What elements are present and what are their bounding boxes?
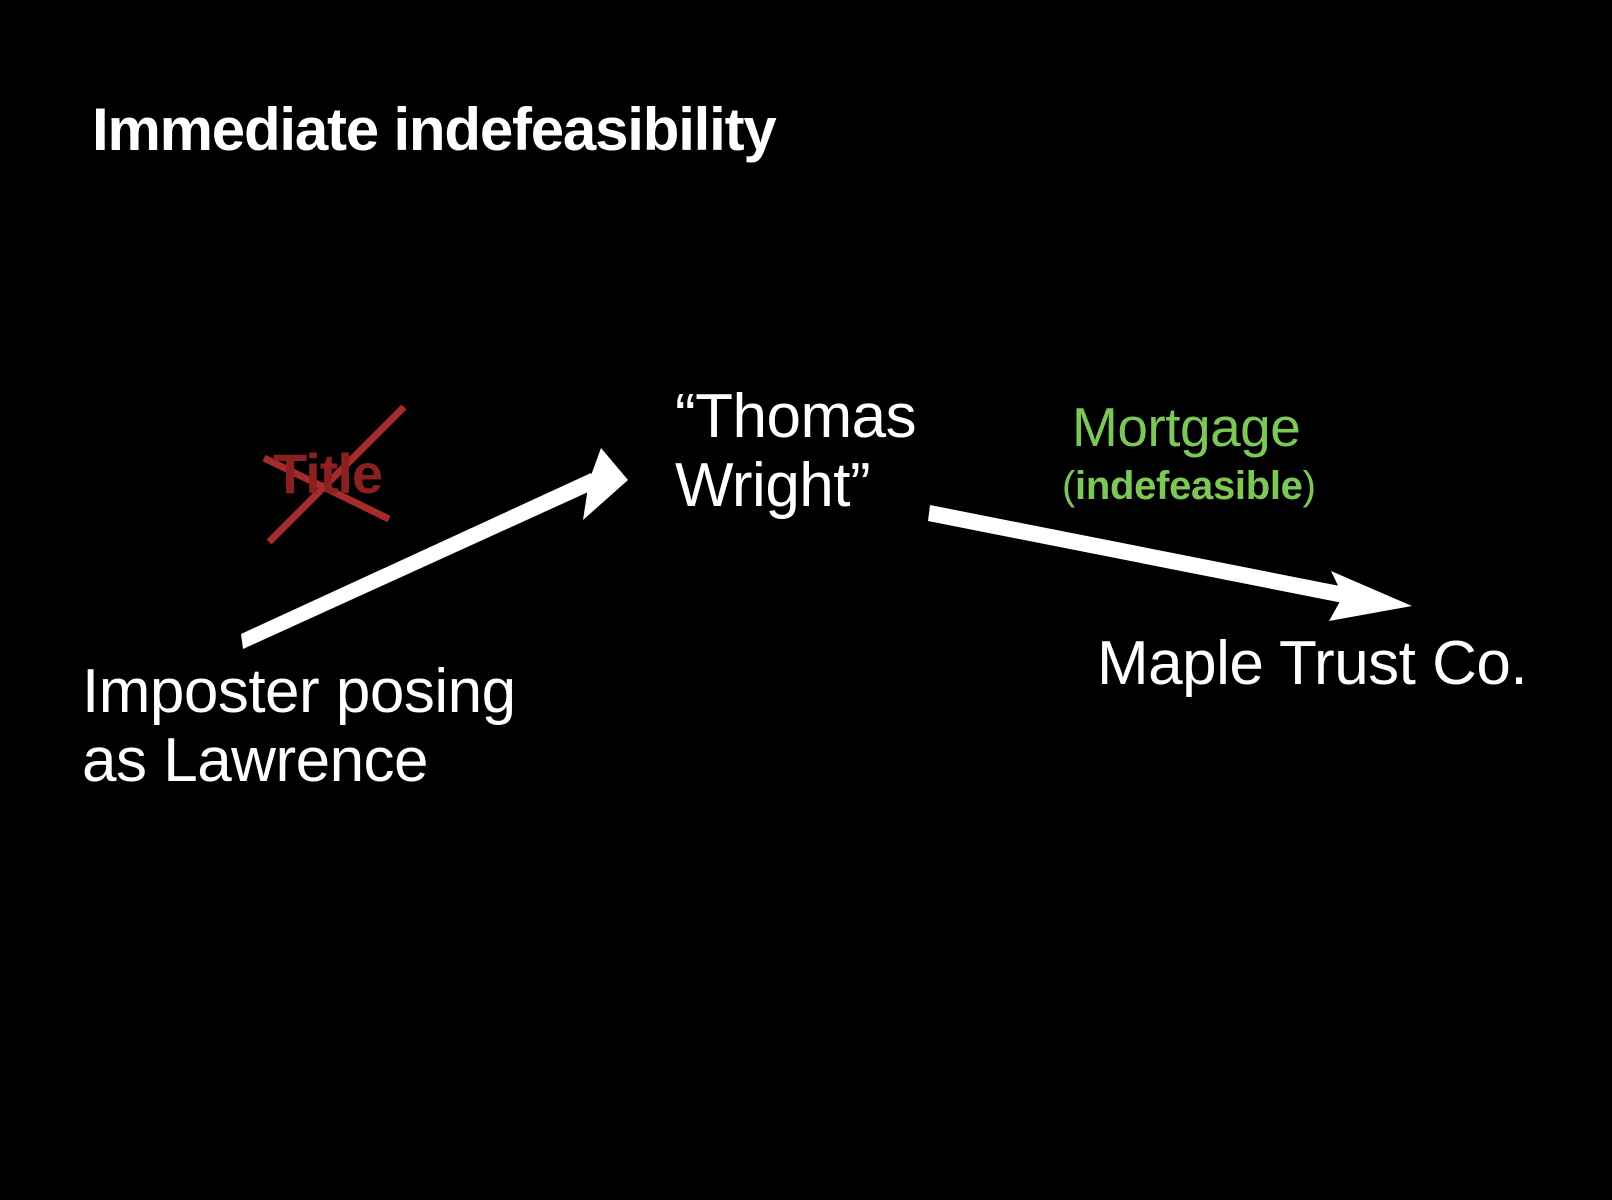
mortgage-node-label: Mortgage xyxy=(1072,397,1300,459)
imposter-node-label: Imposter posing as Lawrence xyxy=(82,657,516,796)
mortgage-status-close-paren: ) xyxy=(1303,464,1316,508)
mortgage-status-label: (indefeasible) xyxy=(1062,464,1316,509)
mortgage-status-open-paren: ( xyxy=(1062,464,1075,508)
slide-canvas: Immediate indefeasibility Title “Thomas … xyxy=(0,0,1612,1200)
thomas-wright-node-label: “Thomas Wright” xyxy=(675,382,916,521)
thomas-wright-to-maple-trust-arrow xyxy=(928,505,1412,621)
diagram-graphics-layer xyxy=(0,0,1612,1200)
title-node-label: Title xyxy=(273,443,382,506)
maple-trust-node-label: Maple Trust Co. xyxy=(1097,629,1527,698)
mortgage-status-value: indefeasible xyxy=(1075,464,1303,508)
